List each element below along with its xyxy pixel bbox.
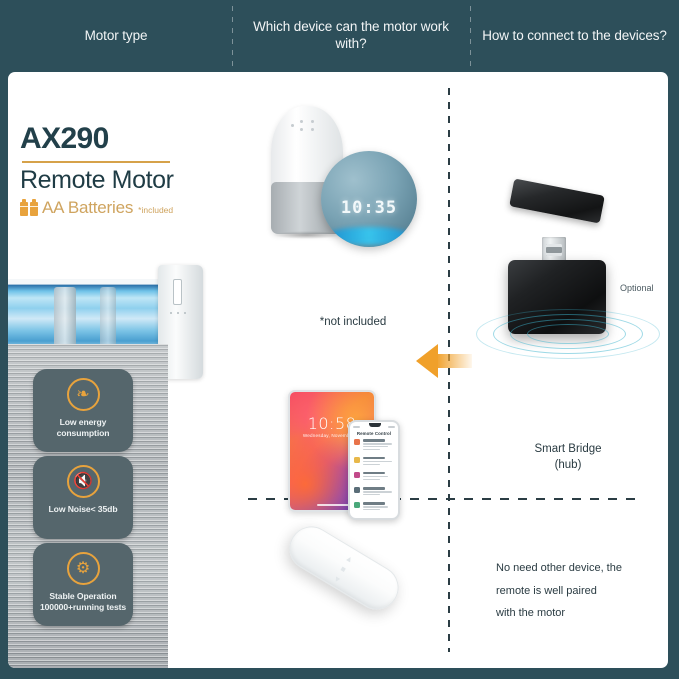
badge-line-1: Stable Operation (49, 591, 116, 601)
smart-bridge-caption: Smart Bridge (hub) (468, 442, 668, 473)
motor-slot (173, 279, 182, 305)
paired-line-3: with the motor (496, 607, 565, 619)
list-item-icon (354, 472, 360, 478)
left-arrow-icon (416, 344, 472, 378)
feature-badge-label: Low energy consumption (54, 417, 113, 440)
list-item-icon (354, 502, 360, 508)
list-item-icon (354, 457, 360, 463)
echo-light-ring (327, 227, 411, 245)
product-name: Remote Motor (20, 167, 235, 195)
list-item-text (363, 439, 394, 451)
signal-wave-4 (476, 309, 660, 359)
phone-status-bar (353, 424, 395, 429)
list-item-text (363, 457, 394, 467)
header-column-device-compatibility: Which device can the motor work with? (232, 0, 470, 72)
product-model: AX290 (20, 124, 235, 154)
feature-badge-label: Low Noise< 35db (46, 504, 121, 515)
badge-line-2: consumption (57, 428, 110, 438)
feature-badge-label: Stable Operation 100000+running tests (37, 591, 129, 614)
smart-bridge-photo: Optional (468, 177, 668, 407)
remote-control-photo: ▲ ■ ▼ (266, 524, 446, 664)
mute-icon: 🔇 (67, 465, 100, 498)
list-item (354, 439, 394, 451)
tablet-and-phone-photo: 10:58 Wednesday, November 18 Remote Cont… (280, 382, 430, 532)
arrow-tail (436, 354, 472, 368)
hub-usb-cap (509, 178, 605, 223)
gold-rule (22, 161, 170, 163)
phone-device: Remote Control (348, 420, 400, 520)
smart-bridge-caption-line1: Smart Bridge (534, 443, 601, 455)
battery-label: AA Batteries (42, 199, 133, 216)
list-item-text (363, 472, 394, 482)
arrow-head (416, 344, 438, 378)
smart-bridge-caption-line2: (hub) (555, 459, 582, 471)
badge-line-1: Low Noise< 35db (49, 504, 118, 514)
feature-badge-low-noise: 🔇 Low Noise< 35db (33, 456, 133, 539)
header-bar: Motor type Which device can the motor wo… (0, 0, 679, 72)
list-item-text (363, 502, 394, 512)
phone-app-list (354, 439, 394, 517)
header-column-how-to-connect: How to connect to the devices? (470, 0, 679, 72)
list-item (354, 472, 394, 482)
phone-app-title: Remote Control (350, 431, 398, 436)
echo-clock-display: 10:35 (321, 198, 417, 218)
list-item-text (363, 487, 394, 497)
battery-icon (20, 202, 38, 216)
not-included-note: *not included (263, 316, 443, 328)
speaker-led-dots (291, 120, 323, 132)
feature-badge-panel: ❧ Low energy consumption 🔇 Low Noise< 35… (8, 344, 168, 668)
header-label-motor-type: Motor type (85, 28, 148, 45)
remote-button-stop: ■ (339, 565, 347, 574)
paired-line-2: remote is well paired (496, 585, 597, 597)
badge-line-1: Low energy (60, 417, 107, 427)
leaf-icon: ❧ (67, 378, 100, 411)
gears-icon: ⚙ (67, 552, 100, 585)
paired-line-1: No need other device, the (496, 562, 622, 574)
motor-indicator-dots (170, 312, 186, 314)
remote-button-up: ▲ (344, 554, 355, 565)
header-label-how-to-connect: How to connect to the devices? (482, 28, 667, 45)
list-item-icon (354, 487, 360, 493)
infographic-page: Motor type Which device can the motor wo… (0, 0, 679, 679)
content-card: AX290 Remote Motor AA Batteries *include… (8, 72, 668, 668)
battery-note: *included (138, 206, 173, 215)
feature-badge-stable-operation: ⚙ Stable Operation 100000+running tests (33, 543, 133, 626)
list-item-icon (354, 439, 360, 445)
paired-description: No need other device, the remote is well… (496, 557, 666, 625)
optional-label: Optional (620, 283, 654, 293)
smart-speakers-photo: 10:35 (263, 96, 443, 281)
product-title-block: AX290 Remote Motor AA Batteries *include… (20, 124, 235, 216)
list-item (354, 487, 394, 497)
echo-dot-speaker: 10:35 (321, 151, 417, 247)
tablet-home-bar (317, 504, 351, 506)
white-remote-body: ▲ ■ ▼ (281, 518, 407, 618)
feature-badge-low-energy: ❧ Low energy consumption (33, 369, 133, 452)
battery-line: AA Batteries *included (20, 199, 235, 216)
badge-line-2: 100000+running tests (40, 602, 126, 612)
header-label-device-compatibility: Which device can the motor work with? (240, 19, 462, 53)
remote-button-down: ▼ (331, 575, 342, 586)
list-item (354, 457, 394, 467)
list-item (354, 502, 394, 512)
header-column-motor-type: Motor type (0, 0, 232, 72)
